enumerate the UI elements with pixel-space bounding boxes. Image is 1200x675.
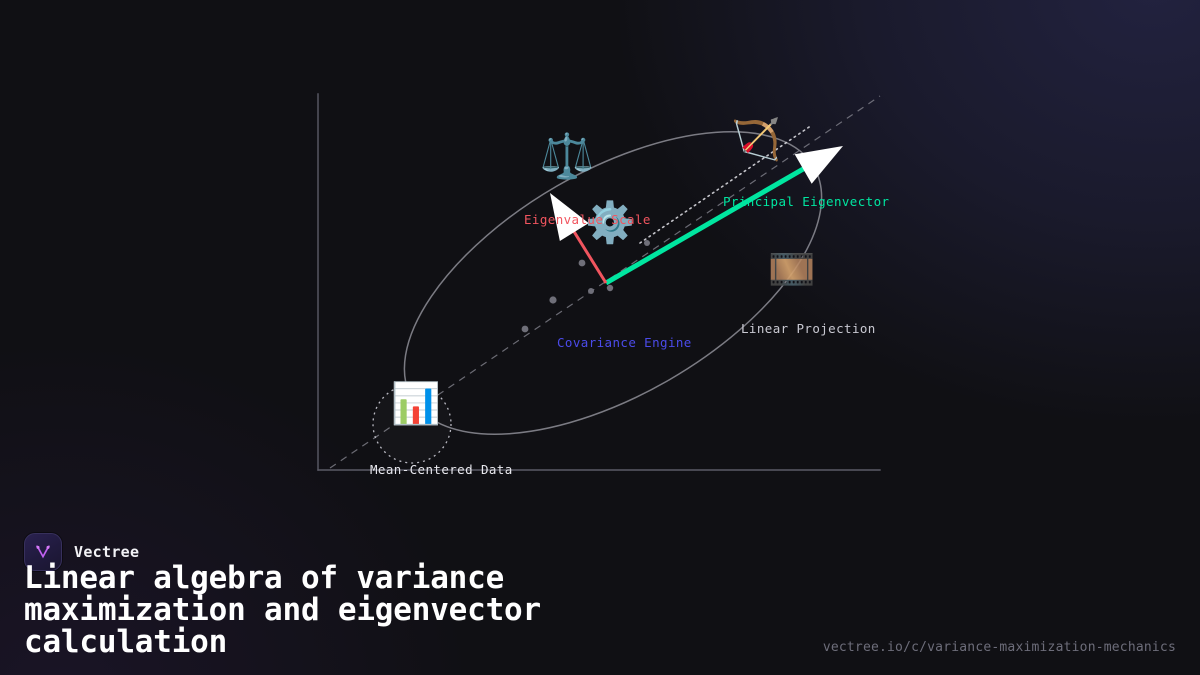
label-mean-centered-data: Mean-Centered Data [370, 462, 513, 477]
label-covariance-engine: Covariance Engine [557, 335, 692, 350]
card-footer: Vectree Linear algebra of variance maxim… [0, 500, 1200, 675]
brand-name: Vectree [74, 543, 139, 561]
label-eigenvalue-scale: Eigenvalue Scale [524, 212, 651, 227]
balance-scale-icon: ⚖️ [540, 135, 595, 179]
bow-and-arrow-icon: 🏹 [731, 120, 781, 160]
scatter-dot [588, 288, 594, 294]
pca-diagram: ⚖️ ⚙️ 🏹 🎞️ 📊 Eigenvalue Scale Covariance… [0, 0, 1200, 500]
share-card: ⚖️ ⚙️ 🏹 🎞️ 📊 Eigenvalue Scale Covariance… [0, 0, 1200, 675]
source-url: vectree.io/c/variance-maximization-mecha… [823, 640, 1176, 655]
label-linear-projection: Linear Projection [741, 321, 876, 336]
scatter-dot [522, 326, 529, 333]
bar-chart-icon: 📊 [391, 384, 441, 424]
scatter-dot [549, 296, 556, 303]
scatter-dot-group [522, 240, 650, 332]
page-title: Linear algebra of variance maximization … [24, 562, 784, 659]
label-principal-eigenvector: Principal Eigenvector [723, 194, 889, 209]
scatter-dot [579, 260, 586, 267]
diagram-canvas [0, 0, 1200, 500]
projection-dotted-line [640, 125, 812, 243]
scatter-dot [607, 285, 613, 291]
film-frames-icon: 🎞️ [768, 250, 815, 288]
scatter-dot [644, 240, 650, 246]
